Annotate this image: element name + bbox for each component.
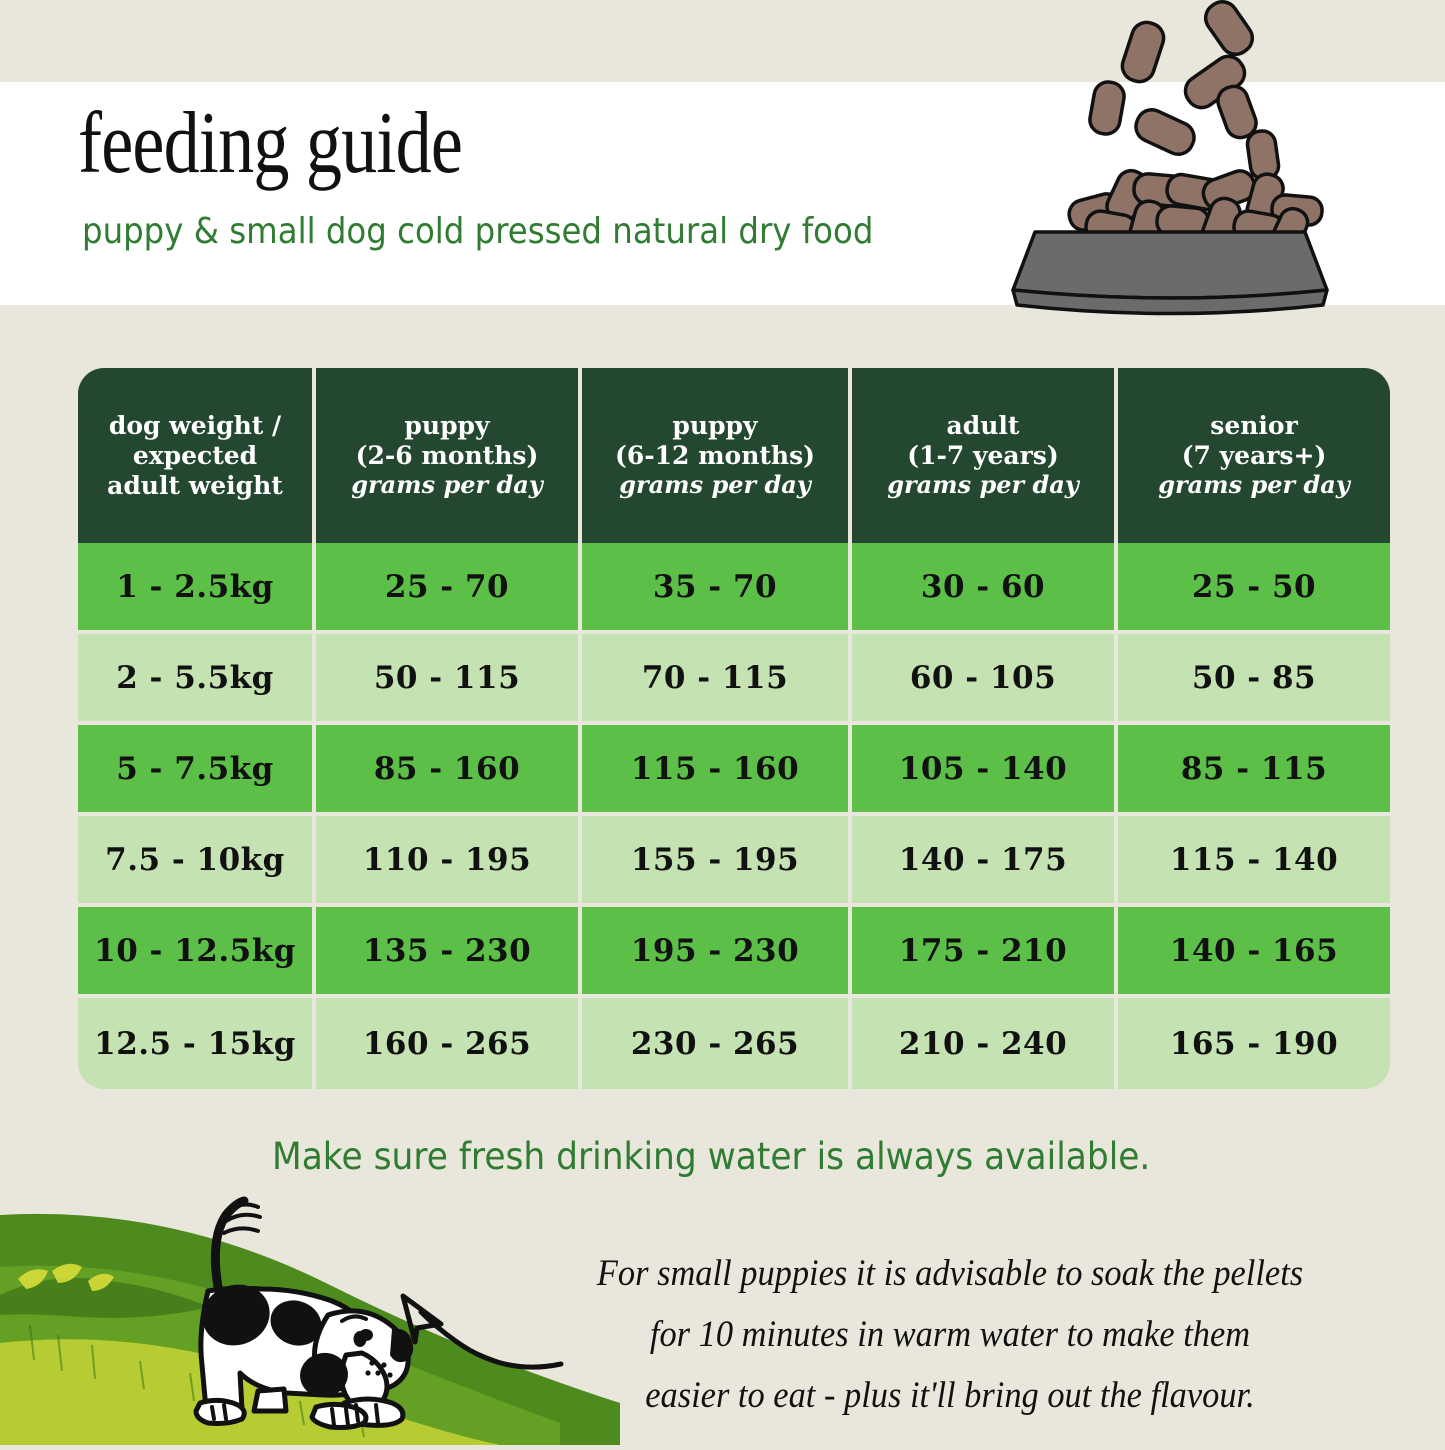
table-row: 5 - 7.5kg 85 - 160 115 - 160 105 - 140 8… [78,725,1390,816]
header-units: grams per day [619,471,811,500]
soak-line-2: for 10 minutes in warm water to make the… [532,1304,1369,1365]
cell-adult: 210 - 240 [852,998,1118,1089]
grass-landscape-illustration [0,1175,620,1445]
cell-dog-weight: 10 - 12.5kg [78,907,316,998]
page-subtitle: puppy & small dog cold pressed natural d… [82,214,873,250]
column-header-senior: senior (7 years+) grams per day [1118,368,1390,543]
feeding-guide-table: dog weight / expected adult weight puppy… [78,368,1390,1090]
header-line-2: (2-6 months) [356,441,539,471]
header-units: grams per day [887,471,1079,500]
column-header-puppy-2-6: puppy (2-6 months) grams per day [316,368,582,543]
cell-puppy-6-12: 35 - 70 [582,543,852,634]
table-row: 12.5 - 15kg 160 - 265 230 - 265 210 - 24… [78,998,1390,1089]
column-header-puppy-6-12: puppy (6-12 months) grams per day [582,368,852,543]
cell-puppy-6-12: 155 - 195 [582,816,852,907]
cell-senior: 50 - 85 [1118,634,1390,725]
puppy-illustration [110,1195,430,1445]
column-header-adult: adult (1-7 years) grams per day [852,368,1118,543]
column-header-dog-weight: dog weight / expected adult weight [78,368,316,543]
header-line-2: (6-12 months) [615,441,815,471]
header-line-3: adult weight [107,471,283,501]
water-reminder-note: Make sure fresh drinking water is always… [272,1137,1156,1178]
header-line-1: senior [1210,411,1298,441]
cell-dog-weight: 2 - 5.5kg [78,634,316,725]
cell-puppy-6-12: 230 - 265 [582,998,852,1089]
cell-senior: 85 - 115 [1118,725,1390,816]
header-line-2: (7 years+) [1182,441,1327,471]
cell-adult: 60 - 105 [852,634,1118,725]
table-row: 7.5 - 10kg 110 - 195 155 - 195 140 - 175… [78,816,1390,907]
table-header-row: dog weight / expected adult weight puppy… [78,368,1390,543]
cell-senior: 140 - 165 [1118,907,1390,998]
soaking-instructions-note: For small puppies it is advisable to soa… [532,1243,1369,1426]
header-units: grams per day [1158,471,1350,500]
cell-dog-weight: 1 - 2.5kg [78,543,316,634]
cell-puppy-2-6: 85 - 160 [316,725,582,816]
cell-puppy-2-6: 160 - 265 [316,998,582,1089]
table-row: 2 - 5.5kg 50 - 115 70 - 115 60 - 105 50 … [78,634,1390,725]
cell-senior: 165 - 190 [1118,998,1390,1089]
cell-dog-weight: 12.5 - 15kg [78,998,316,1089]
cell-puppy-2-6: 25 - 70 [316,543,582,634]
cell-puppy-6-12: 70 - 115 [582,634,852,725]
cell-adult: 175 - 210 [852,907,1118,998]
page-title: feeding guide [78,100,462,188]
cell-senior: 25 - 50 [1118,543,1390,634]
cell-puppy-6-12: 115 - 160 [582,725,852,816]
header-line-2: expected [133,441,257,471]
header-line-1: adult [947,411,1020,441]
cell-puppy-2-6: 135 - 230 [316,907,582,998]
header-banner: feeding guide puppy & small dog cold pre… [0,82,1445,305]
cell-adult: 30 - 60 [852,543,1118,634]
header-units: grams per day [351,471,543,500]
header-line-1: dog weight / [109,411,281,441]
header-line-1: puppy [672,411,757,441]
header-line-1: puppy [404,411,489,441]
cell-dog-weight: 7.5 - 10kg [78,816,316,907]
cell-dog-weight: 5 - 7.5kg [78,725,316,816]
table-row: 1 - 2.5kg 25 - 70 35 - 70 30 - 60 25 - 5… [78,543,1390,634]
table-row: 10 - 12.5kg 135 - 230 195 - 230 175 - 21… [78,907,1390,998]
soak-line-1: For small puppies it is advisable to soa… [532,1243,1369,1304]
cell-adult: 105 - 140 [852,725,1118,816]
cell-puppy-6-12: 195 - 230 [582,907,852,998]
cell-puppy-2-6: 110 - 195 [316,816,582,907]
soak-line-3: easier to eat - plus it'll bring out the… [532,1365,1369,1426]
cell-senior: 115 - 140 [1118,816,1390,907]
table-body: 1 - 2.5kg 25 - 70 35 - 70 30 - 60 25 - 5… [78,543,1390,1089]
cell-adult: 140 - 175 [852,816,1118,907]
cell-puppy-2-6: 50 - 115 [316,634,582,725]
header-line-2: (1-7 years) [907,441,1058,471]
